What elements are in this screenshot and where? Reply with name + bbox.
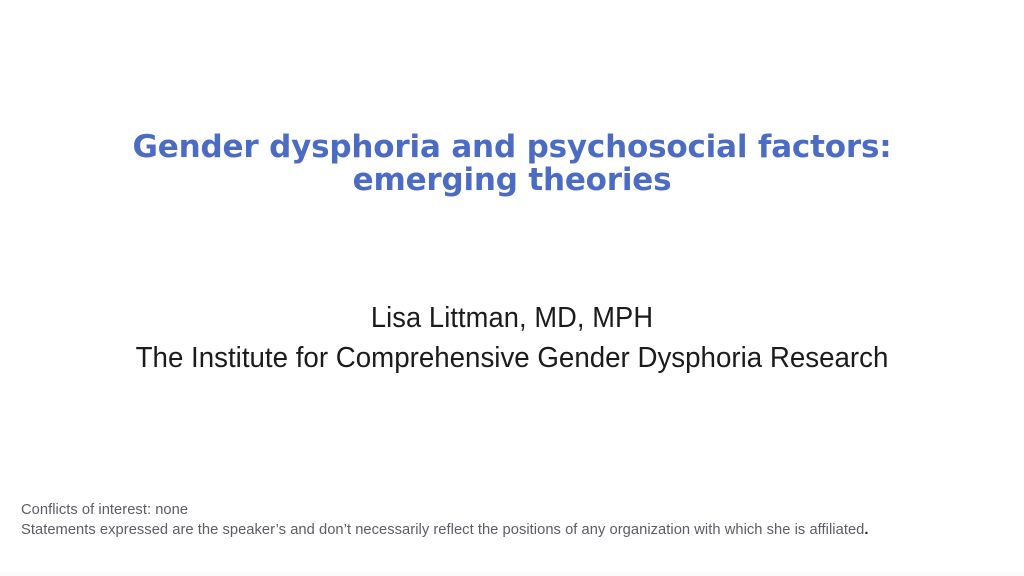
slide-canvas: Gender dysphoria and psychosocial factor… [0,0,1024,576]
slide-bottom-edge [0,572,1024,576]
statements-disclaimer-final-stop: . [864,522,868,538]
slide-title-line-2: emerging theories [0,164,1024,196]
author-block: Lisa Littman, MD, MPH The Institute for … [0,298,1024,379]
author-affiliation: The Institute for Comprehensive Gender D… [23,338,1001,379]
author-name: Lisa Littman, MD, MPH [31,298,994,338]
statements-disclaimer-line: Statements expressed are the speaker’s a… [21,520,1001,540]
statements-disclaimer-text: Statements expressed are the speaker’s a… [21,522,864,538]
conflicts-of-interest-line: Conflicts of interest: none [21,500,1001,520]
slide-title: Gender dysphoria and psychosocial factor… [0,131,1024,196]
slide-title-line-1: Gender dysphoria and psychosocial factor… [8,131,1017,163]
disclaimer-footer: Conflicts of interest: none Statements e… [21,500,1001,540]
